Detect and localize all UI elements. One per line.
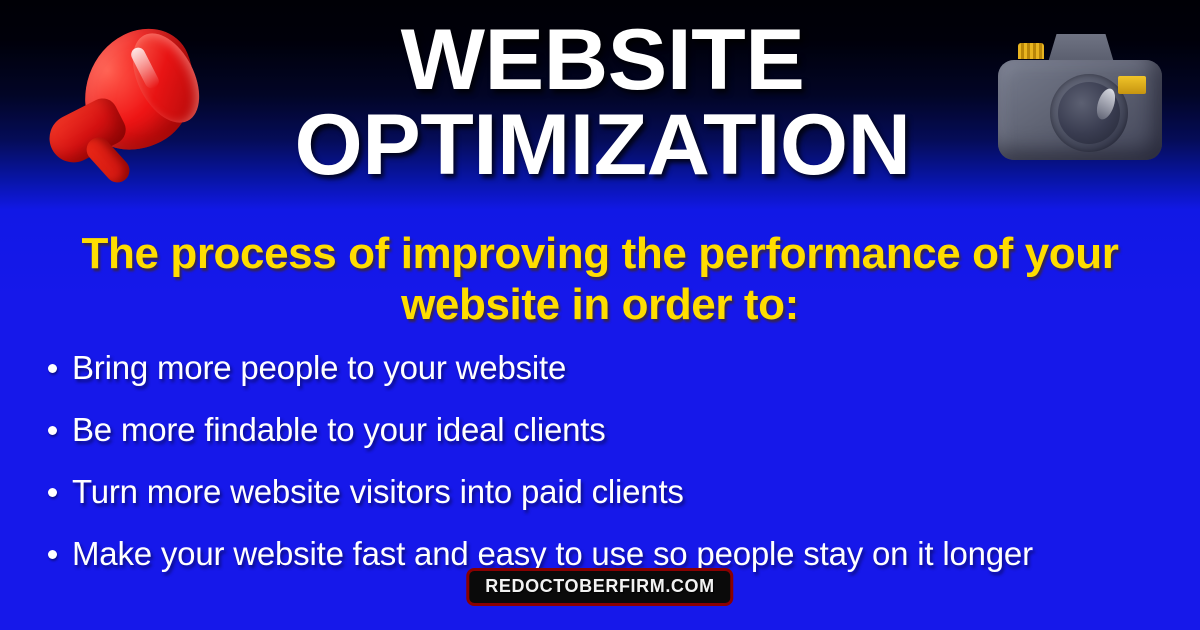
bullet-dot-icon (48, 488, 57, 497)
bullet-dot-icon (48, 550, 57, 559)
title-line-1: WEBSITE (200, 18, 1006, 102)
camera-film-knob (1018, 43, 1044, 59)
benefits-list: Bring more people to your website Be mor… (40, 348, 1170, 596)
footer-website-url: REDOCTOBERFIRM.COM (485, 576, 714, 596)
title-line-2: OPTIMIZATION (207, 102, 998, 188)
subtitle-text: The process of improving the performance… (24, 228, 1176, 330)
page-title: WEBSITE OPTIMIZATION (215, 18, 990, 188)
camera-icon (990, 20, 1170, 180)
footer-website-badge[interactable]: REDOCTOBERFIRM.COM (466, 568, 733, 606)
megaphone-icon (42, 28, 214, 193)
list-item-label: Turn more website visitors into paid cli… (72, 473, 684, 510)
list-item: Turn more website visitors into paid cli… (40, 472, 1170, 512)
list-item: Be more findable to your ideal clients (40, 410, 1170, 450)
camera-flash-panel (1118, 76, 1146, 94)
bullet-dot-icon (48, 426, 57, 435)
list-item: Bring more people to your website (40, 348, 1170, 388)
bullet-dot-icon (48, 364, 57, 373)
list-item-label: Be more findable to your ideal clients (72, 411, 606, 448)
list-item-label: Make your website fast and easy to use s… (72, 535, 1033, 572)
list-item-label: Bring more people to your website (72, 349, 566, 386)
header-band: WEBSITE OPTIMIZATION (0, 0, 1200, 208)
poster-canvas: WEBSITE OPTIMIZATION The process of impr… (0, 0, 1200, 630)
